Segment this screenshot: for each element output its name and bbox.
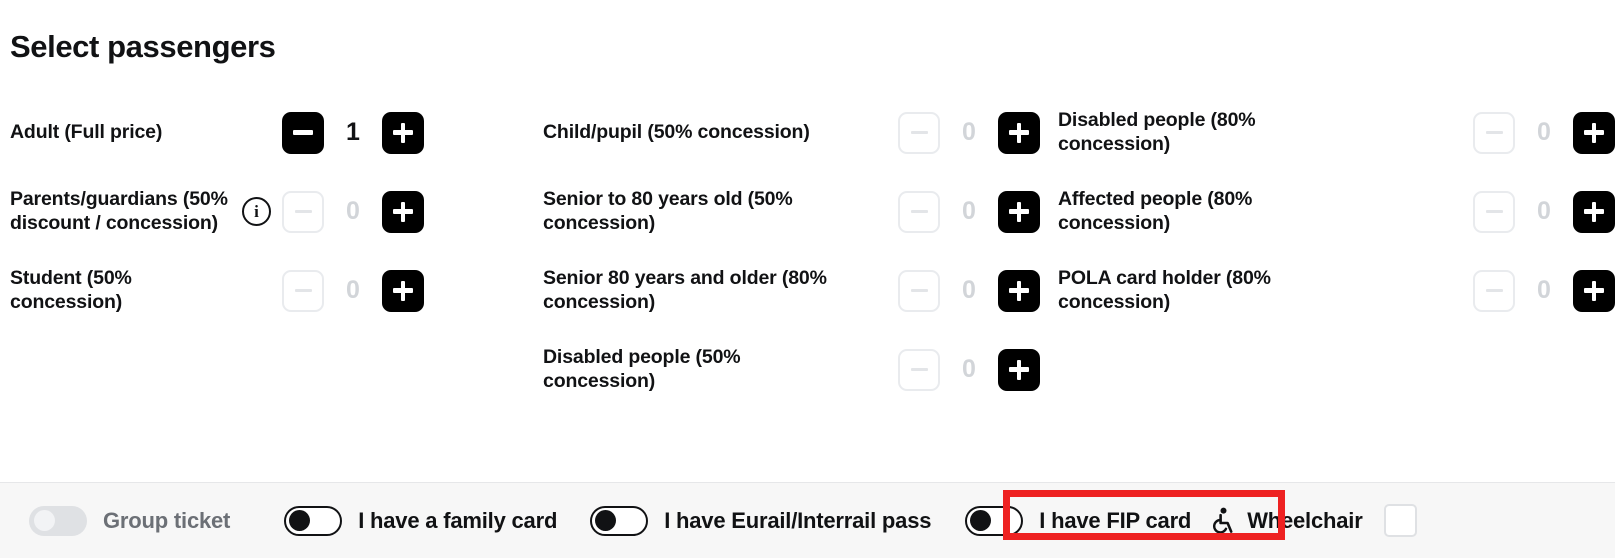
minus-icon <box>911 131 928 134</box>
increment-button[interactable] <box>382 191 424 233</box>
option-family-card: I have a family card <box>284 506 557 536</box>
eurail-interrail-toggle[interactable] <box>590 506 648 536</box>
passenger-type-label: Senior to 80 years old (50% concession) <box>543 188 829 236</box>
passenger-row-child-pupil: Child/pupil (50% concession) 0 <box>543 93 1040 172</box>
group-ticket-toggle <box>29 506 87 536</box>
minus-icon <box>911 289 928 292</box>
increment-button[interactable] <box>998 270 1040 312</box>
passenger-stepper: i 0 <box>242 191 424 233</box>
passenger-column-1: Adult (Full price) 1 Parents/guardians (… <box>0 93 520 330</box>
decrement-button <box>1473 270 1515 312</box>
toggle-knob <box>289 510 310 531</box>
passenger-count: 0 <box>1515 120 1573 145</box>
increment-button[interactable] <box>1573 270 1615 312</box>
passenger-stepper: 0 <box>1473 191 1615 233</box>
passenger-type-label: Parents/guardians (50% discount / conces… <box>10 188 242 236</box>
passenger-count: 0 <box>324 278 382 303</box>
toggle-knob <box>595 510 616 531</box>
increment-button[interactable] <box>1573 112 1615 154</box>
option-eurail-interrail-pass: I have Eurail/Interrail pass <box>590 506 931 536</box>
decrement-button <box>898 112 940 154</box>
passenger-row-disabled-50: Disabled people (50% concession) 0 <box>543 330 1040 409</box>
passenger-count: 0 <box>940 357 998 382</box>
increment-button[interactable] <box>998 112 1040 154</box>
increment-button[interactable] <box>998 349 1040 391</box>
passenger-stepper: 0 <box>242 270 424 312</box>
passenger-count: 0 <box>940 278 998 303</box>
minus-icon <box>295 210 312 213</box>
increment-button[interactable] <box>998 191 1040 233</box>
decrement-button <box>898 270 940 312</box>
passenger-type-label: POLA card holder (80% concession) <box>1058 267 1340 315</box>
passenger-stepper: 0 <box>898 349 1040 391</box>
option-label: I have FIP card <box>1039 508 1191 534</box>
decrement-button <box>1473 191 1515 233</box>
passenger-selection-page: Select passengers Adult (Full price) 1 P… <box>0 0 1615 558</box>
option-label: Group ticket <box>103 508 230 534</box>
passenger-row-parents-guardians: Parents/guardians (50% discount / conces… <box>10 172 520 251</box>
passenger-row-affected-people: Affected people (80% concession) 0 <box>1058 172 1615 251</box>
increment-button[interactable] <box>382 270 424 312</box>
passenger-column-3: Disabled people (80% concession) 0 Affec… <box>1040 93 1615 330</box>
increment-button[interactable] <box>382 112 424 154</box>
passenger-count: 0 <box>940 199 998 224</box>
toggle-knob <box>970 510 991 531</box>
passenger-count: 0 <box>1515 199 1573 224</box>
option-fip-card: I have FIP card <box>965 506 1191 536</box>
minus-icon <box>293 130 313 135</box>
passenger-type-label: Senior 80 years and older (80% concessio… <box>543 267 829 315</box>
minus-icon <box>911 210 928 213</box>
decrement-button <box>1473 112 1515 154</box>
passenger-type-label: Adult (Full price) <box>10 121 242 145</box>
passenger-type-label: Child/pupil (50% concession) <box>543 121 829 145</box>
passenger-type-label: Student (50% concession) <box>10 267 242 315</box>
passenger-stepper: 0 <box>898 112 1040 154</box>
passenger-stepper: 1 <box>242 112 424 154</box>
passenger-stepper: 0 <box>1473 270 1615 312</box>
page-title: Select passengers <box>10 30 275 64</box>
fip-card-toggle[interactable] <box>965 506 1023 536</box>
decrement-button <box>282 191 324 233</box>
passenger-row-student: Student (50% concession) 0 <box>10 251 520 330</box>
wheelchair-checkbox[interactable] <box>1384 504 1417 537</box>
passenger-type-label: Disabled people (50% concession) <box>543 346 829 394</box>
minus-icon <box>1486 210 1503 213</box>
passenger-count: 0 <box>940 120 998 145</box>
option-label: Wheelchair <box>1247 508 1362 534</box>
passenger-type-label: Disabled people (80% concession) <box>1058 109 1340 157</box>
info-icon[interactable]: i <box>242 197 271 226</box>
decrement-button <box>898 349 940 391</box>
decrement-button <box>282 270 324 312</box>
toggle-knob <box>34 510 55 531</box>
passenger-stepper: 0 <box>898 270 1040 312</box>
passenger-row-senior-80-and-older: Senior 80 years and older (80% concessio… <box>543 251 1040 330</box>
minus-icon <box>911 368 928 371</box>
family-card-toggle[interactable] <box>284 506 342 536</box>
passenger-row-adult: Adult (Full price) 1 <box>10 93 520 172</box>
decrement-button <box>898 191 940 233</box>
passenger-count: 0 <box>324 199 382 224</box>
ticket-options-bar: Group ticket I have a family card I have… <box>0 482 1615 558</box>
passenger-count: 0 <box>1515 278 1573 303</box>
decrement-button[interactable] <box>282 112 324 154</box>
minus-icon <box>1486 289 1503 292</box>
passenger-stepper: 0 <box>898 191 1040 233</box>
option-label: I have Eurail/Interrail pass <box>664 508 931 534</box>
option-label: I have a family card <box>358 508 557 534</box>
option-wheelchair: Wheelchair <box>1211 504 1416 537</box>
minus-icon <box>295 289 312 292</box>
passenger-stepper: 0 <box>1473 112 1615 154</box>
wheelchair-icon <box>1211 506 1237 536</box>
passenger-grid: Adult (Full price) 1 Parents/guardians (… <box>0 93 1615 409</box>
minus-icon <box>1486 131 1503 134</box>
passenger-type-label: Affected people (80% concession) <box>1058 188 1340 236</box>
passenger-row-senior-to-80: Senior to 80 years old (50% concession) … <box>543 172 1040 251</box>
option-group-ticket: Group ticket <box>29 506 230 536</box>
passenger-row-pola-card-holder: POLA card holder (80% concession) 0 <box>1058 251 1615 330</box>
passenger-count: 1 <box>324 120 382 145</box>
increment-button[interactable] <box>1573 191 1615 233</box>
passenger-column-2: Child/pupil (50% concession) 0 Senior to… <box>520 93 1040 409</box>
passenger-row-disabled-80: Disabled people (80% concession) 0 <box>1058 93 1615 172</box>
